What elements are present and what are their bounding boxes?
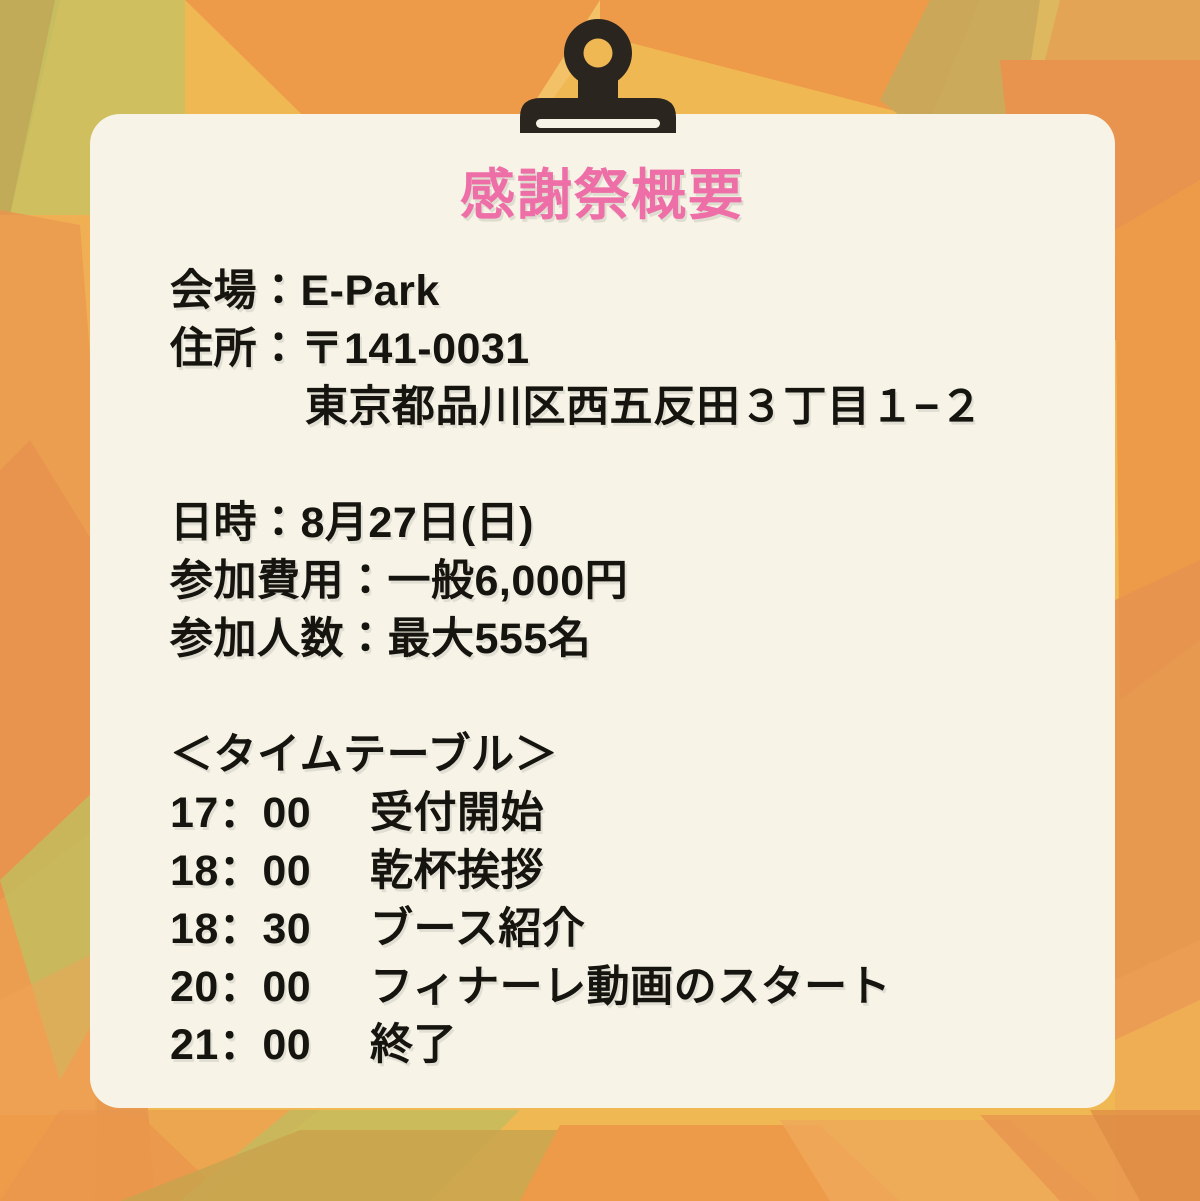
- address-line-2: 東京都品川区西五反田３丁目１−２: [170, 378, 1085, 436]
- timetable-label: 終了: [370, 1016, 457, 1074]
- venue-line: 会場：E-Park: [170, 262, 1085, 320]
- timetable-row: 18：00 乾杯挨拶: [170, 842, 1085, 900]
- timetable-row: 18：30 ブース紹介: [170, 900, 1085, 958]
- timetable-time: 18：30: [170, 900, 370, 958]
- timetable-time: 21：00: [170, 1016, 370, 1074]
- page-title: 感謝祭概要: [90, 168, 1115, 223]
- info-card: 感謝祭概要 会場：E-Park 住所：〒141-0031 東京都品川区西五反田３…: [90, 114, 1115, 1108]
- fee-line: 参加費用：一般6,000円: [170, 552, 1085, 610]
- timetable-label: 受付開始: [370, 784, 544, 842]
- capacity-line: 参加人数：最大555名: [170, 610, 1085, 668]
- section-spacer-2: [170, 668, 1085, 726]
- section-spacer-1: [170, 436, 1085, 494]
- timetable-label: 乾杯挨拶: [370, 842, 544, 900]
- datetime-line: 日時：8月27日(日): [170, 494, 1085, 552]
- timetable-time: 17：00: [170, 784, 370, 842]
- address-line-1: 住所：〒141-0031: [170, 320, 1085, 378]
- timetable-row: 21：00 終了: [170, 1016, 1085, 1074]
- timetable-time: 20：00: [170, 958, 370, 1016]
- timetable-label: フィナーレ動画のスタート: [370, 958, 891, 1016]
- timetable-label: ブース紹介: [370, 900, 585, 958]
- timetable-row: 20：00 フィナーレ動画のスタート: [170, 958, 1085, 1016]
- timetable-time: 18：00: [170, 842, 370, 900]
- timetable-row: 17：00 受付開始: [170, 784, 1085, 842]
- timetable-heading: ＜タイムテーブル＞: [170, 726, 1085, 784]
- binder-clip-icon: [505, 14, 695, 139]
- card-body: 会場：E-Park 住所：〒141-0031 東京都品川区西五反田３丁目１−２ …: [170, 262, 1085, 1074]
